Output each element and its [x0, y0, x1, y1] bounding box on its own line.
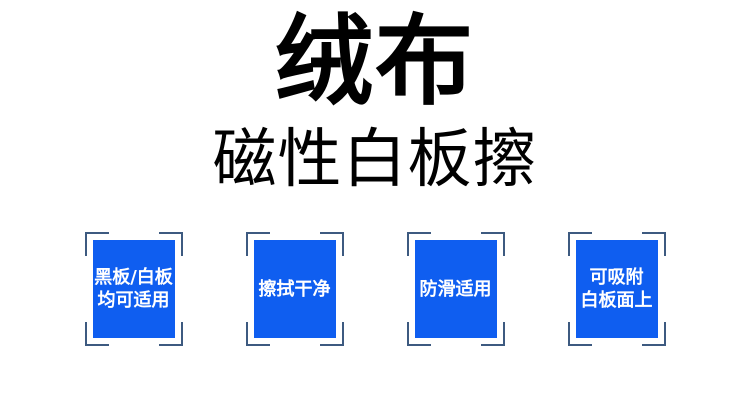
feature-label-line1: 黑板/白板 — [94, 266, 173, 289]
feature-label-line1: 可吸附 — [590, 266, 644, 289]
feature-label-line2: 白板面上 — [581, 289, 653, 312]
title-block: 绒布 磁性白板擦 — [0, 0, 750, 196]
feature-box: 黑板/白板 均可适用 — [93, 240, 175, 338]
feature-box: 擦拭干净 — [254, 240, 336, 338]
feature-box: 可吸附 白板面上 — [576, 240, 658, 338]
feature-card-board-compatibility[interactable]: 黑板/白板 均可适用 — [85, 232, 183, 346]
feature-label-line1: 擦拭干净 — [259, 278, 331, 301]
feature-label-line2: 均可适用 — [98, 289, 170, 312]
page-subtitle: 磁性白板擦 — [0, 118, 750, 196]
feature-box: 防滑适用 — [415, 240, 497, 338]
page-title: 绒布 — [0, 0, 750, 118]
feature-list: 黑板/白板 均可适用 擦拭干净 防滑适用 — [0, 232, 750, 352]
product-banner: 绒布 磁性白板擦 黑板/白板 均可适用 擦拭干净 — [0, 0, 750, 409]
feature-card-magnetic-attach[interactable]: 可吸附 白板面上 — [568, 232, 666, 346]
feature-card-anti-slip[interactable]: 防滑适用 — [407, 232, 505, 346]
feature-card-clean-wipe[interactable]: 擦拭干净 — [246, 232, 344, 346]
feature-label-line1: 防滑适用 — [420, 278, 492, 301]
